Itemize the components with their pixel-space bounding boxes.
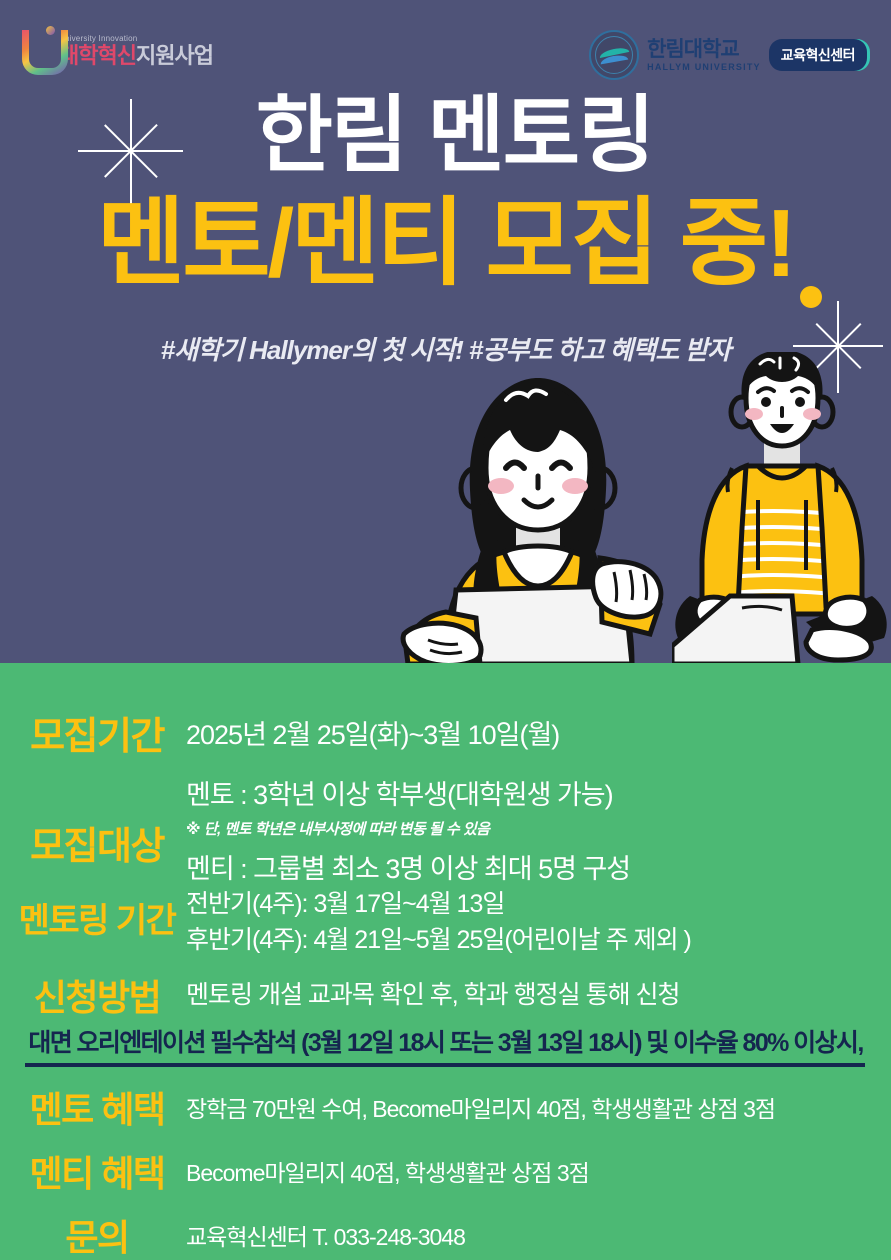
label-mento-benefit: 멘토 혜택 [8, 1081, 186, 1133]
row-contact: 문의 교육혁신센터 T. 033-248-3048 [8, 1209, 888, 1260]
row-recruit-target: 모집대상 멘토 : 3학년 이상 학부생(대학원생 가능) ※ 단, 멘토 학년… [8, 773, 888, 886]
u-gradient-mark-icon [22, 26, 54, 68]
row-apply-method: 신청방법 멘토링 개설 교과목 확인 후, 학과 행정실 통해 신청 [8, 969, 888, 1021]
info-section: 모집기간 2025년 2월 25일(화)~3월 10일(월) 모집대상 멘토 :… [0, 663, 891, 1260]
value-contact: 교육혁신센터 T. 033-248-3048 [186, 1209, 465, 1252]
poster-title-line2: 멘토/멘티 모집 중! [0, 196, 891, 292]
value-menti-benefit: Become마일리지 40점, 학생생활관 상점 3점 [186, 1145, 589, 1188]
university-innovation-en-label: University Innovation [59, 35, 213, 43]
value-recruit-period: 2025년 2월 25일(화)~3월 10일(월) [186, 705, 559, 752]
university-innovation-kr-rest: 지원사업 [136, 43, 213, 68]
university-innovation-logo: University Innovation 대학혁신지원사업 [22, 26, 213, 68]
row-recruit-period: 모집기간 2025년 2월 25일(화)~3월 10일(월) [8, 705, 888, 760]
value-recruit-target-menti: 멘티 : 그룹별 최소 3명 이상 최대 5명 구성 [186, 847, 630, 886]
value-apply-method: 멘토링 개설 교과목 확인 후, 학과 행정실 통해 신청 [186, 969, 680, 1011]
value-mentoring-first-half: 전반기(4주): 3월 17일~4월 13일 [186, 887, 691, 923]
poster-root: University Innovation 대학혁신지원사업 한림대학교 HAL… [0, 0, 891, 1260]
orientation-notice: 대면 오리엔테이션 필수참석 (3월 12일 18시 또는 3월 13일 18시… [0, 1023, 891, 1059]
education-innovation-center-badge: 교육혁신센터 [769, 39, 867, 71]
row-mentoring-period: 멘토링 기간 전반기(4주): 3월 17일~4월 13일 후반기(4주): 4… [8, 887, 888, 958]
label-mentoring-period: 멘토링 기간 [8, 887, 186, 942]
hallym-en-label: HALLYM UNIVERSITY [647, 63, 761, 72]
label-recruit-period: 모집기간 [8, 705, 186, 760]
value-recruit-target-note: ※ 단, 멘토 학년은 내부사정에 따라 변동 될 수 있음 [186, 818, 630, 839]
label-menti-benefit: 멘티 혜택 [8, 1145, 186, 1197]
label-contact: 문의 [8, 1209, 186, 1260]
university-innovation-kr-accent: 대학혁신 [59, 43, 136, 68]
hero-section: University Innovation 대학혁신지원사업 한림대학교 HAL… [0, 0, 891, 663]
poster-title-line1: 한림 멘토링 [0, 93, 891, 177]
value-mento-benefit: 장학금 70만원 수여, Become마일리지 40점, 학생생활관 상점 3점 [186, 1081, 775, 1124]
illustration-female-student [388, 372, 688, 663]
hallym-kr-label: 한림대학교 [647, 39, 761, 60]
value-mentoring-second-half: 후반기(4주): 4월 21일~5월 25일(어린이날 주 제외 ) [186, 923, 691, 959]
row-mento-benefit: 멘토 혜택 장학금 70만원 수여, Become마일리지 40점, 학생생활관… [8, 1081, 888, 1133]
label-apply-method: 신청방법 [8, 969, 186, 1021]
illustration-male-student [672, 352, 891, 663]
label-recruit-target: 모집대상 [8, 773, 186, 870]
row-menti-benefit: 멘티 혜택 Become마일리지 40점, 학생생활관 상점 3점 [8, 1145, 888, 1197]
section-divider [25, 1063, 865, 1067]
hallym-emblem-icon [589, 30, 639, 80]
hallym-university-logo: 한림대학교 HALLYM UNIVERSITY 교육혁신센터 [589, 30, 867, 80]
value-recruit-target-mento: 멘토 : 3학년 이상 학부생(대학원생 가능) [186, 773, 630, 812]
